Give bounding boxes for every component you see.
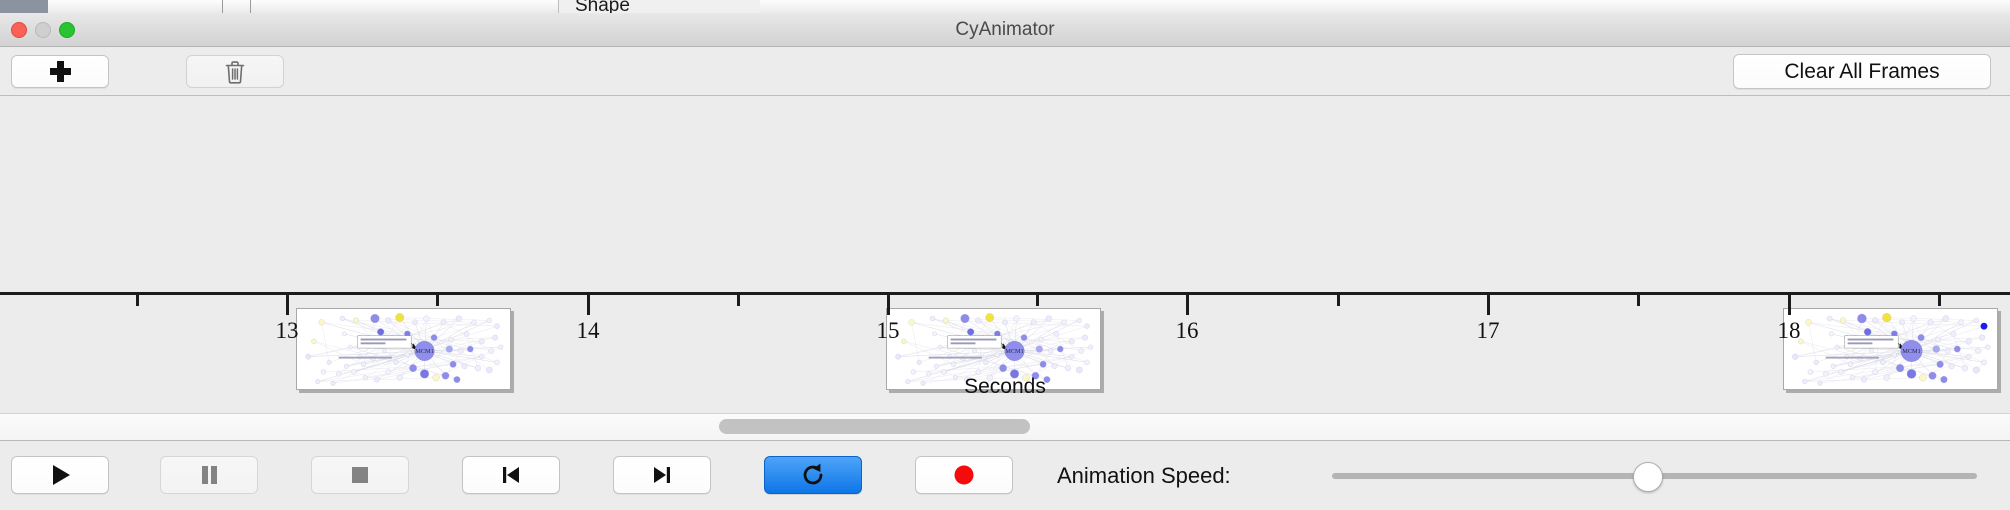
bg-toolbar-cell bbox=[1820, 0, 2010, 14]
timeline-scrollbar[interactable] bbox=[0, 413, 2010, 441]
bg-toolbar-cell bbox=[760, 0, 931, 14]
skip-to-start-button[interactable] bbox=[462, 456, 560, 494]
bg-toolbar-cell bbox=[318, 0, 419, 14]
bg-toolbar-cell bbox=[1520, 0, 1821, 14]
stop-button[interactable] bbox=[311, 456, 409, 494]
bg-toolbar-cell bbox=[418, 0, 559, 14]
timeline-tick-major bbox=[1186, 295, 1189, 315]
pause-icon bbox=[196, 462, 222, 488]
bg-separator bbox=[250, 0, 251, 14]
add-frame-button[interactable] bbox=[11, 55, 109, 88]
delete-frame-button[interactable] bbox=[186, 55, 284, 88]
timeline-tick-minor bbox=[136, 295, 139, 306]
timeline-tick-major bbox=[1487, 295, 1490, 315]
timeline-tick-minor bbox=[1938, 295, 1941, 306]
timeline-scrollbar-thumb[interactable] bbox=[719, 419, 1030, 434]
network-hub-node-label: MCM1 bbox=[415, 348, 434, 355]
trash-icon bbox=[224, 60, 246, 84]
bg-separator bbox=[222, 0, 223, 14]
timeline-tick-label: 16 bbox=[1176, 318, 1199, 344]
timeline-tick-label: 17 bbox=[1477, 318, 1500, 344]
cyanimator-window: CyAnimator Clear All Frames MCM1MCM1MCM1 bbox=[0, 13, 2010, 510]
timeline-tick-major bbox=[587, 295, 590, 315]
play-icon bbox=[47, 462, 73, 488]
timeline-tick-label: 18 bbox=[1778, 318, 1801, 344]
timeline-tick-major bbox=[1788, 295, 1791, 315]
timeline-tick-minor bbox=[1337, 295, 1340, 306]
animation-speed-slider-thumb[interactable] bbox=[1633, 462, 1663, 492]
timeline-tick-major bbox=[887, 295, 890, 315]
clear-all-frames-label: Clear All Frames bbox=[1784, 60, 1939, 84]
animation-speed-label: Animation Speed: bbox=[1057, 463, 1231, 489]
playback-control-bar: Animation Speed: bbox=[0, 441, 2010, 510]
skip-to-end-button[interactable] bbox=[613, 456, 711, 494]
bg-dark-cell bbox=[0, 0, 48, 14]
timeline-tick-label: 15 bbox=[877, 318, 900, 344]
bg-toolbar-cell bbox=[1320, 0, 1521, 14]
bg-toolbar-cell bbox=[188, 0, 319, 14]
skip-forward-icon bbox=[649, 462, 675, 488]
network-hub-node-label: MCM1 bbox=[1005, 348, 1024, 355]
timeline-tick-label: 14 bbox=[577, 318, 600, 344]
timeline-tick-major bbox=[286, 295, 289, 315]
bg-toolbar-cell bbox=[1120, 0, 1321, 14]
frame-toolbar: Clear All Frames bbox=[0, 47, 2010, 96]
loop-button[interactable] bbox=[764, 456, 862, 494]
timeline-tick-minor bbox=[737, 295, 740, 306]
window-title: CyAnimator bbox=[0, 19, 2010, 41]
stop-icon bbox=[347, 462, 373, 488]
play-button[interactable] bbox=[11, 456, 109, 494]
timeline-panel[interactable]: MCM1MCM1MCM1 12131415161718 Seconds bbox=[0, 96, 2010, 413]
loop-icon bbox=[799, 461, 827, 489]
skip-back-icon bbox=[498, 462, 524, 488]
timeline-axis-title: Seconds bbox=[0, 375, 2010, 399]
record-icon bbox=[951, 462, 977, 488]
window-titlebar: CyAnimator bbox=[0, 13, 2010, 47]
record-button[interactable] bbox=[915, 456, 1013, 494]
timeline-tick-label: 13 bbox=[276, 318, 299, 344]
timeline-tick-minor bbox=[436, 295, 439, 306]
pause-button[interactable] bbox=[160, 456, 258, 494]
cyanimator-screenshot: Shape CyAnimator bbox=[0, 0, 2010, 510]
bg-toolbar-cell bbox=[930, 0, 1121, 14]
network-hub-node-label: MCM1 bbox=[1902, 348, 1921, 355]
timeline-tick-minor bbox=[1036, 295, 1039, 306]
timeline-ruler-line bbox=[0, 292, 2010, 295]
plus-icon bbox=[50, 61, 71, 82]
clear-all-frames-button[interactable]: Clear All Frames bbox=[1733, 54, 1991, 89]
bg-toolbar-cell bbox=[48, 0, 189, 14]
timeline-tick-minor bbox=[1637, 295, 1640, 306]
